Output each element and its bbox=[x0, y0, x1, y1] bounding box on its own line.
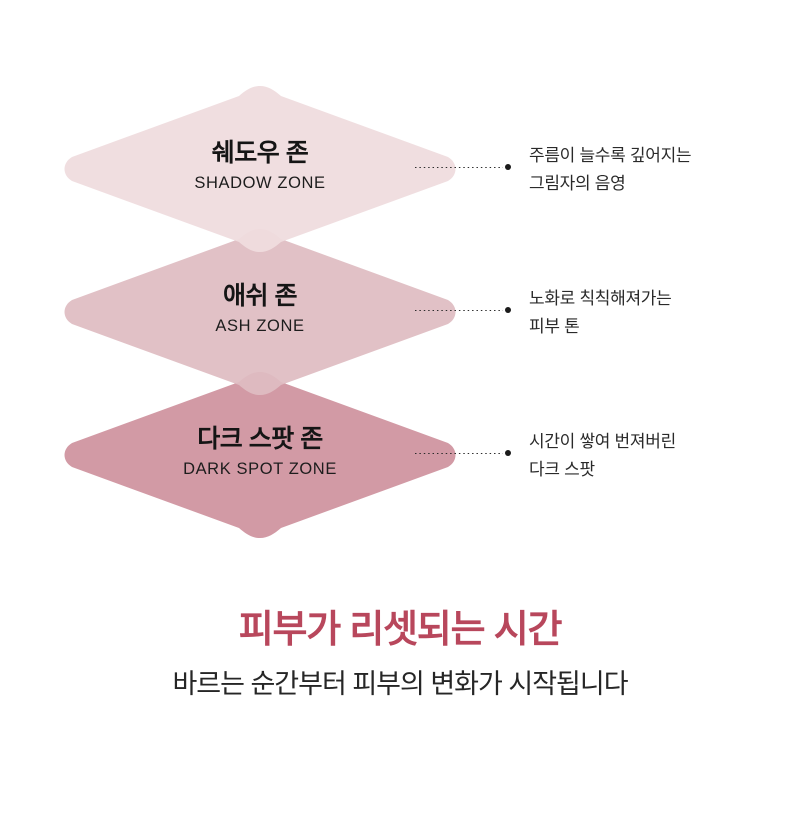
dotted-leader-line-icon bbox=[415, 310, 503, 311]
zone-description-ash: 노화로 칙칙해져가는 피부 톤 bbox=[529, 285, 779, 340]
zone-name-en-darkspot: DARK SPOT ZONE bbox=[0, 460, 520, 478]
zone-description-darkspot-line1: 시간이 쌓여 번져버린 bbox=[529, 428, 779, 456]
zone-name-en-shadow: SHADOW ZONE bbox=[0, 174, 520, 192]
zone-description-shadow-line1: 주름이 늘수록 깊어지는 bbox=[529, 142, 779, 170]
dotted-leader-line-icon bbox=[415, 453, 503, 454]
headline-main: 피부가 리셋되는 시간 bbox=[0, 608, 800, 653]
headline-subtitle: 바르는 순간부터 피부의 변화가 시작됩니다 bbox=[0, 668, 800, 701]
leader-line-darkspot bbox=[415, 449, 511, 458]
zone-description-shadow: 주름이 늘수록 깊어지는 그림자의 음영 bbox=[529, 142, 779, 197]
zone-description-shadow-line2: 그림자의 음영 bbox=[529, 170, 779, 198]
zone-diagram: 쉐도우 존 SHADOW ZONE 애쉬 존 ASH ZONE 다크 스팟 존 … bbox=[0, 0, 800, 580]
leader-line-shadow bbox=[415, 163, 511, 172]
leader-end-dot-icon bbox=[505, 450, 511, 456]
zone-description-darkspot-line2: 다크 스팟 bbox=[529, 456, 779, 484]
zone-name-en-ash: ASH ZONE bbox=[0, 317, 520, 335]
leader-end-dot-icon bbox=[505, 307, 511, 313]
zone-description-ash-line1: 노화로 칙칙해져가는 bbox=[529, 285, 779, 313]
dotted-leader-line-icon bbox=[415, 167, 503, 168]
zone-description-ash-line2: 피부 톤 bbox=[529, 313, 779, 341]
zone-description-darkspot: 시간이 쌓여 번져버린 다크 스팟 bbox=[529, 428, 779, 483]
headline-block: 피부가 리셋되는 시간 바르는 순간부터 피부의 변화가 시작됩니다 bbox=[0, 608, 800, 701]
leader-end-dot-icon bbox=[505, 164, 511, 170]
leader-line-ash bbox=[415, 306, 511, 315]
